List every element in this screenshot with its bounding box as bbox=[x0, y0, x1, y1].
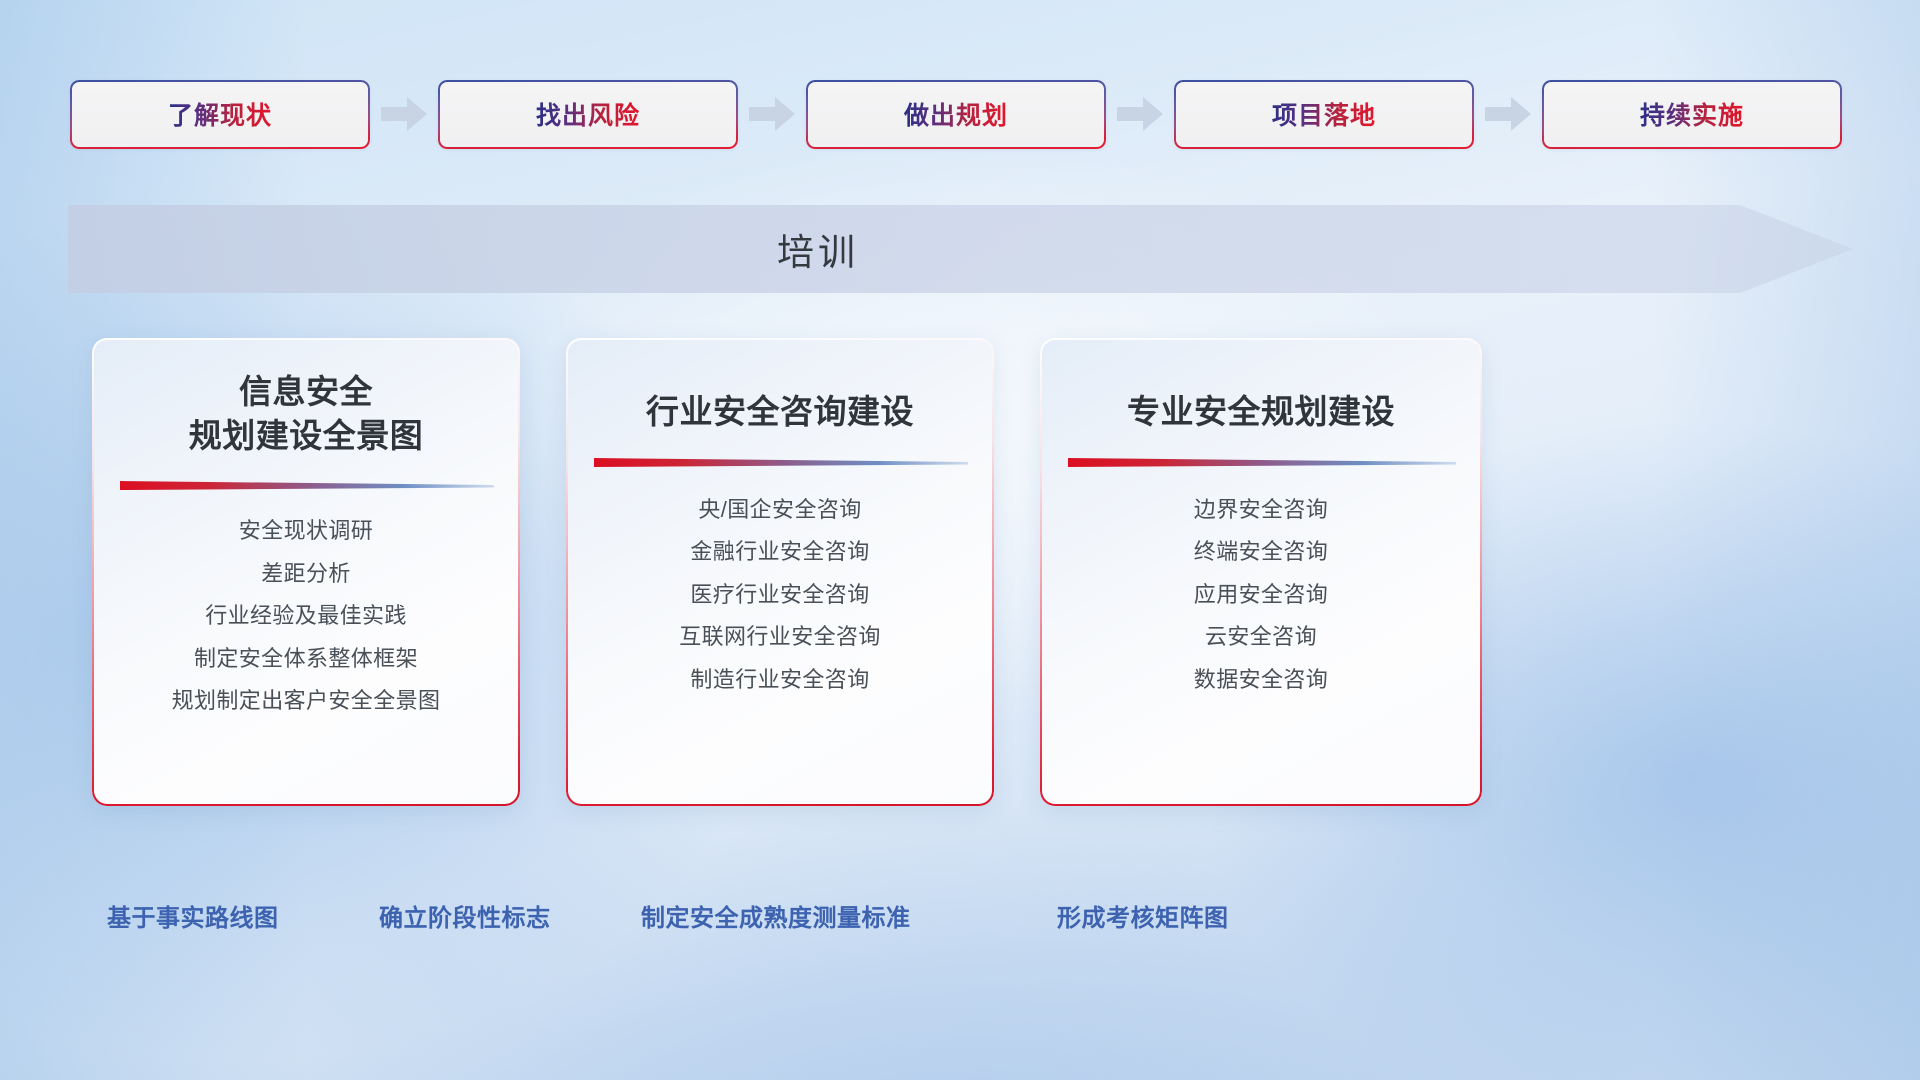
card-divider-1 bbox=[592, 456, 968, 468]
card-title-2: 专业安全规划建设 bbox=[1127, 390, 1395, 434]
list-item: 互联网行业安全咨询 bbox=[679, 623, 881, 652]
footnote-1: 确立阶段性标志 bbox=[379, 898, 551, 933]
footnote-3: 形成考核矩阵图 bbox=[1057, 898, 1229, 933]
list-item: 边界安全咨询 bbox=[1194, 496, 1328, 525]
card-title-line: 规划建设全景图 bbox=[189, 414, 424, 458]
list-item: 制定安全体系整体框架 bbox=[194, 645, 418, 674]
card-list-0: 安全现状调研 差距分析 行业经验及最佳实践 制定安全体系整体框架 规划制定出客户… bbox=[92, 517, 520, 716]
step-arrow-icon-1 bbox=[738, 79, 806, 149]
list-item: 金融行业安全咨询 bbox=[690, 538, 869, 567]
list-item: 差距分析 bbox=[261, 560, 351, 589]
card-divider-0 bbox=[118, 479, 494, 491]
presentation-slide: 了解现状 找出风险 做出规划 项目落地 持续实施 bbox=[0, 0, 1920, 1080]
footnote-row: 基于事实路线图 确立阶段性标志 制定安全成熟度测量标准 形成考核矩阵图 bbox=[0, 898, 1920, 948]
card-row: 信息安全 规划建设全景图 bbox=[0, 338, 1920, 818]
list-item: 央/国企安全咨询 bbox=[698, 496, 861, 525]
card-title-0: 信息安全 规划建设全景图 bbox=[189, 370, 424, 457]
card-title-line: 信息安全 bbox=[189, 370, 424, 414]
process-step-row: 了解现状 找出风险 做出规划 项目落地 持续实施 bbox=[70, 79, 1850, 149]
step-label-3: 项目落地 bbox=[1272, 96, 1376, 132]
step-arrow-icon-0 bbox=[370, 79, 438, 149]
list-item: 规划制定出客户安全全景图 bbox=[172, 687, 441, 716]
step-label-2: 做出规划 bbox=[904, 96, 1008, 132]
step-box-3[interactable]: 项目落地 bbox=[1174, 80, 1474, 149]
list-item: 终端安全咨询 bbox=[1194, 538, 1328, 567]
card-title-line: 专业安全规划建设 bbox=[1127, 390, 1395, 434]
step-box-1[interactable]: 找出风险 bbox=[438, 80, 738, 149]
step-label-1: 找出风险 bbox=[536, 96, 640, 132]
step-arrow-icon-2 bbox=[1106, 79, 1174, 149]
footnote-2: 制定安全成熟度测量标准 bbox=[641, 898, 911, 933]
card-title-1: 行业安全咨询建设 bbox=[646, 390, 914, 434]
card-divider-2 bbox=[1066, 456, 1456, 468]
list-item: 数据安全咨询 bbox=[1194, 666, 1328, 695]
footnote-0: 基于事实路线图 bbox=[107, 898, 279, 933]
card-industry-security-consulting[interactable]: 行业安全咨询建设 bbox=[566, 338, 994, 806]
card-list-2: 边界安全咨询 终端安全咨询 应用安全咨询 云安全咨询 数据安全咨询 bbox=[1040, 496, 1482, 695]
list-item: 行业经验及最佳实践 bbox=[205, 602, 407, 631]
step-label-4: 持续实施 bbox=[1640, 96, 1744, 132]
list-item: 云安全咨询 bbox=[1205, 623, 1317, 652]
list-item: 安全现状调研 bbox=[239, 517, 373, 546]
card-title-line: 行业安全咨询建设 bbox=[646, 390, 914, 434]
list-item: 医疗行业安全咨询 bbox=[690, 581, 869, 610]
training-banner: 培训 bbox=[68, 205, 1853, 293]
step-box-4[interactable]: 持续实施 bbox=[1542, 80, 1842, 149]
list-item: 制造行业安全咨询 bbox=[690, 666, 869, 695]
card-professional-security-planning[interactable]: 专业安全规划建设 bbox=[1040, 338, 1482, 806]
card-information-security[interactable]: 信息安全 规划建设全景图 bbox=[92, 338, 520, 806]
step-arrow-icon-3 bbox=[1474, 79, 1542, 149]
step-label-0: 了解现状 bbox=[168, 96, 272, 132]
step-box-0[interactable]: 了解现状 bbox=[70, 80, 370, 149]
card-list-1: 央/国企安全咨询 金融行业安全咨询 医疗行业安全咨询 互联网行业安全咨询 制造行… bbox=[566, 496, 994, 695]
step-box-2[interactable]: 做出规划 bbox=[806, 80, 1106, 149]
list-item: 应用安全咨询 bbox=[1194, 581, 1328, 610]
banner-title: 培训 bbox=[68, 205, 1568, 293]
